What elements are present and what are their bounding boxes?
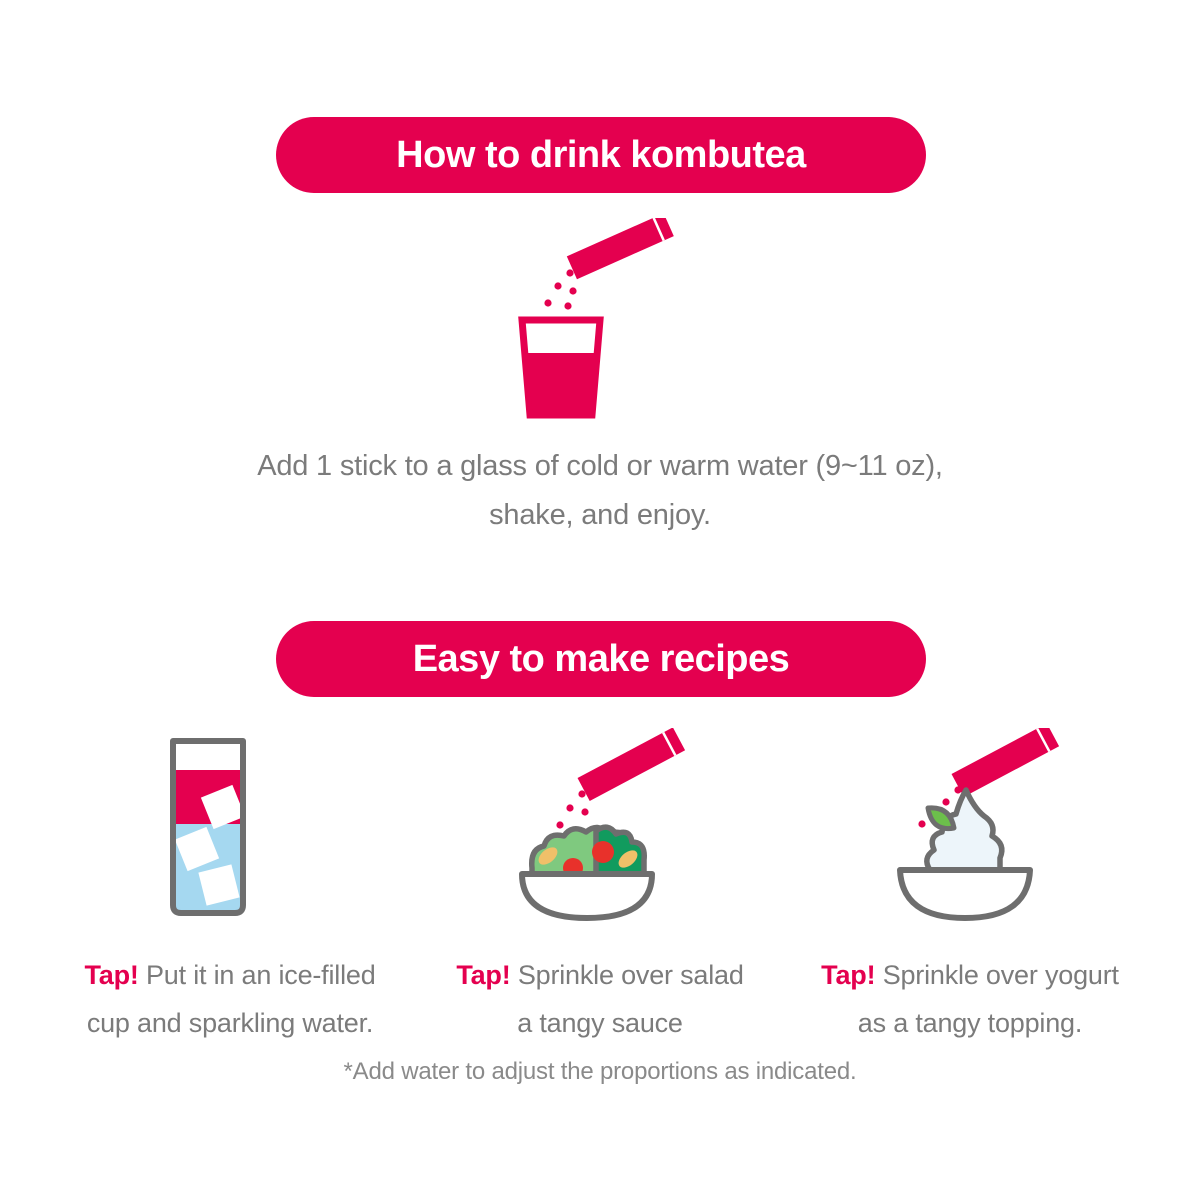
tomato-icon [592,841,614,863]
recipe-caption-ice-cup: Tap! Put it in an ice-filled cup and spa… [78,951,381,1047]
recipe-item-ice-cup: Tap! Put it in an ice-filled cup and spa… [45,728,415,1047]
glass-liquid-fill [526,353,597,412]
banner-easy-recipes: Easy to make recipes [276,621,926,697]
infographic-page: How to drink kombutea [0,0,1200,1200]
mint-leaf-icon [928,808,954,829]
drink-instruction-line-2: shake, and enjoy. [0,491,1200,540]
recipe-caption-salad: Tap! Sprinkle over salad a tangy sauce [450,951,749,1047]
recipe-item-yogurt: Tap! Sprinkle over yogurt as a tangy top… [785,728,1155,1047]
granules-icon [556,790,588,828]
drink-instruction-line-1: Add 1 stick to a glass of cold or warm w… [0,442,1200,491]
banner-how-to-drink: How to drink kombutea [276,117,926,193]
bowl-outline [522,874,652,918]
recipe-icon-container [870,728,1070,923]
recipe-icon-container [130,728,330,923]
recipe-caption-line-1: Sprinkle over yogurt [883,960,1119,990]
yogurt-bowl-with-stick-icon [870,728,1070,923]
recipe-caption-line-2: as a tangy topping. [821,999,1119,1047]
tap-label: Tap! [84,960,138,990]
yogurt-swirl-icon [927,790,1002,870]
tap-label: Tap! [821,960,875,990]
drink-icon-container [0,218,1200,423]
banner-easy-recipes-label: Easy to make recipes [413,640,790,678]
glass-outline-icon [522,320,600,415]
glass-with-stick-icon [500,218,700,423]
tap-label: Tap! [456,960,510,990]
salad-bowl-with-stick-icon [500,728,700,923]
ice-tumbler-icon [130,728,330,923]
salad-greens-icon [532,827,645,878]
recipe-icon-container [500,728,700,923]
drink-instruction-text: Add 1 stick to a glass of cold or warm w… [0,442,1200,540]
recipe-caption-yogurt: Tap! Sprinkle over yogurt as a tangy top… [815,951,1125,1047]
granules-icon [544,269,576,309]
recipe-item-salad: Tap! Sprinkle over salad a tangy sauce [415,728,785,1047]
bowl-outline [900,870,1030,918]
banner-how-to-drink-label: How to drink kombutea [396,136,806,174]
recipe-caption-line-2: a tangy sauce [456,999,743,1047]
recipe-caption-line-2: cup and sparkling water. [84,999,375,1047]
recipe-caption-line-1: Sprinkle over salad [518,960,744,990]
recipe-caption-line-1: Put it in an ice-filled [146,960,376,990]
stick-sachet-icon [578,728,686,801]
footnote-text: *Add water to adjust the proportions as … [0,1058,1200,1086]
recipes-row: Tap! Put it in an ice-filled cup and spa… [45,728,1155,1047]
